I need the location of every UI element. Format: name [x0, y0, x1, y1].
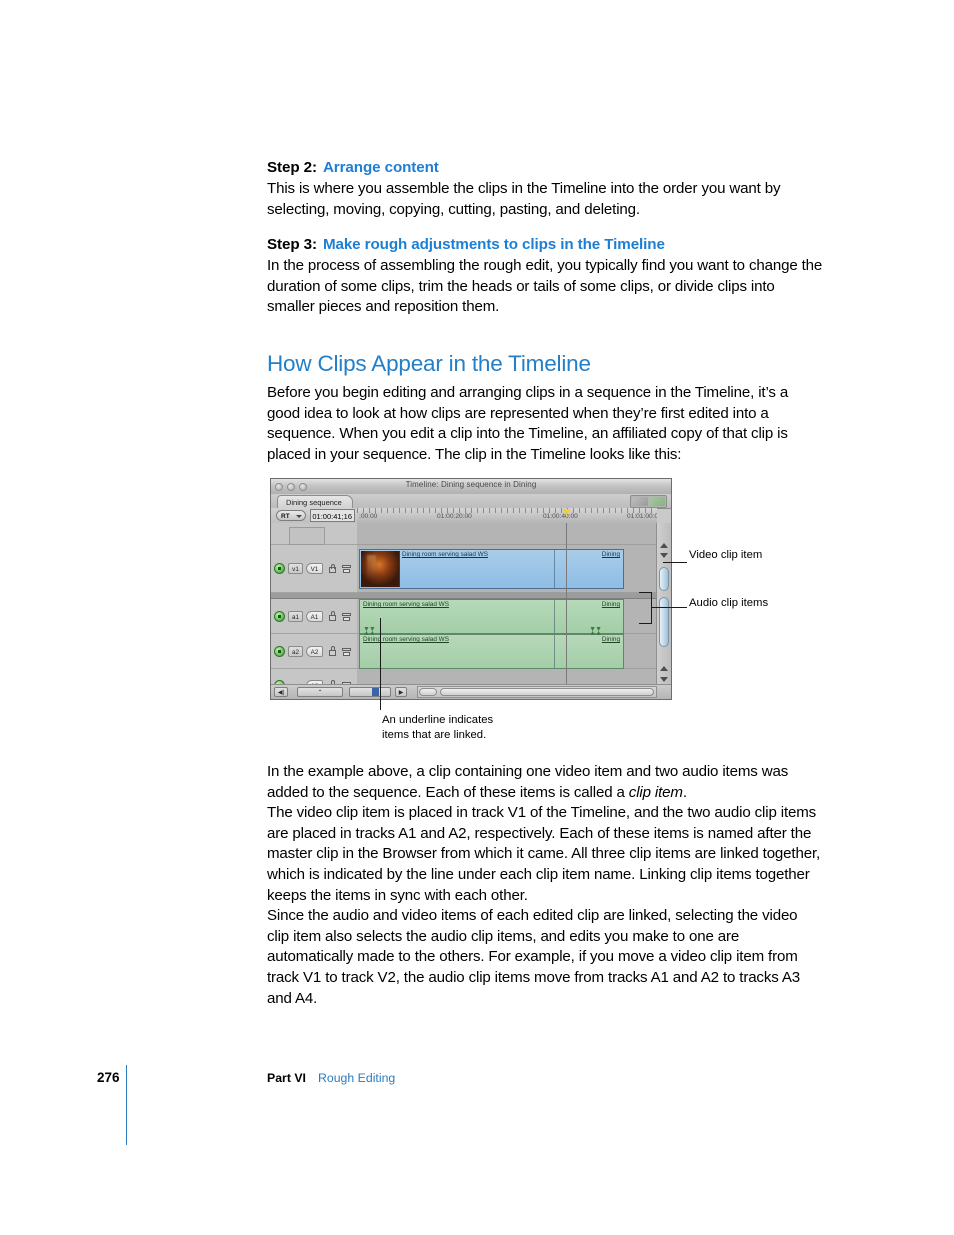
- step-2-heading: Step 2:Arrange content: [267, 158, 823, 178]
- audio-keyframe-icon-a2-left: ▲▲: [363, 631, 375, 636]
- track-header-column: v1 V1 a1 A1 a2: [271, 523, 358, 685]
- rt-popup-button[interactable]: RT: [276, 510, 306, 521]
- lane-a1[interactable]: Dining room serving salad WS Dining ▼▼ ▼…: [357, 599, 671, 634]
- destination-chip-v1[interactable]: V1: [306, 563, 323, 574]
- vertical-scroll-thumb-lower[interactable]: [659, 597, 669, 647]
- video-clip-item[interactable]: Dining room serving salad WS Dining: [359, 549, 624, 589]
- vertical-scrollbar[interactable]: [656, 523, 671, 685]
- page-footer: 276 Part VI Rough Editing: [0, 1070, 954, 1090]
- snapping-icon[interactable]: [649, 497, 665, 506]
- step-3-heading: Step 3:Make rough adjustments to clips i…: [267, 235, 823, 255]
- horizontal-scroll-thumb[interactable]: [440, 688, 654, 696]
- step-3-title: Make rough adjustments to clips in the T…: [323, 236, 665, 253]
- linked-selection-icon[interactable]: [632, 497, 648, 506]
- ruler-label-2: 01:00:40:00: [543, 513, 578, 520]
- scroll-up-icon[interactable]: [660, 543, 668, 548]
- lock-icon-a1[interactable]: [328, 611, 337, 622]
- zoom-slider-thumb[interactable]: [372, 688, 379, 696]
- footer-section-label: Rough Editing: [318, 1071, 395, 1085]
- track-header-a3[interactable]: A3: [271, 669, 357, 685]
- callout-leader-audio: [663, 607, 687, 608]
- section-heading: How Clips Appear in the Timeline: [267, 351, 823, 377]
- lock-icon-v1[interactable]: [328, 563, 337, 574]
- clip-edit-point-a2: [554, 635, 555, 668]
- callout-bracket-audio-stem: [651, 607, 665, 608]
- step-2-title: Arrange content: [323, 159, 439, 176]
- callout-bracket-audio-top: [639, 592, 652, 593]
- window-titlebar: Timeline: Dining sequence in Dining: [271, 479, 671, 495]
- destination-chip-a2[interactable]: A2: [306, 646, 323, 657]
- tracks-area: v1 V1 a1 A1 a2: [271, 523, 671, 685]
- lane-spacer: [357, 523, 671, 545]
- current-timecode-field[interactable]: 01:00:41;16: [310, 509, 355, 522]
- audio-clip-item-a2[interactable]: Dining room serving salad WS Dining ▲▲ ▲…: [359, 634, 624, 669]
- lane-v1[interactable]: Dining room serving salad WS Dining: [357, 545, 671, 593]
- audio-clip-item-a1[interactable]: Dining room serving salad WS Dining ▼▼ ▼…: [359, 599, 624, 634]
- paragraph-example-tail: .: [683, 784, 687, 801]
- source-chip-v1[interactable]: v1: [288, 563, 303, 574]
- ruler-label-3: 01:01:00:00: [627, 513, 657, 520]
- ruler-label-1: 01:00:20:00: [437, 513, 472, 520]
- auto-select-icon-a1[interactable]: [342, 611, 351, 622]
- footer-blue-rule: [126, 1065, 127, 1145]
- track-header-spacer: [271, 523, 357, 545]
- video-clip-right-label: Dining: [602, 551, 620, 558]
- clip-keyframe-toggle-icon[interactable]: ⌃: [297, 687, 343, 697]
- page-number: 276: [97, 1070, 120, 1085]
- clip-item-term: clip item: [629, 784, 683, 801]
- track-header-a2[interactable]: a2 A2: [271, 634, 357, 669]
- step-3-label: Step 3:: [267, 236, 317, 253]
- zoom-expand-icon[interactable]: ▶: [395, 687, 407, 697]
- audio-meter-toggle-icon[interactable]: ◀|: [274, 687, 288, 697]
- lower-body-content: In the example above, a clip containing …: [267, 762, 823, 1009]
- track-header-v1[interactable]: v1 V1: [271, 545, 357, 593]
- lane-a3[interactable]: [357, 669, 671, 685]
- audio-clip-right-label-a2: Dining: [602, 636, 620, 643]
- timeline-figure: Timeline: Dining sequence in Dining Dini…: [270, 478, 672, 700]
- step-2-label: Step 2:: [267, 159, 317, 176]
- video-clip-name: Dining room serving salad WS: [402, 551, 488, 558]
- auto-select-icon-a2[interactable]: [342, 646, 351, 657]
- track-visibility-icon-a2[interactable]: [274, 646, 285, 657]
- callout-underline-line2: items that are linked.: [382, 728, 486, 742]
- audio-clip-right-label-a1: Dining: [602, 601, 620, 608]
- callout-leader-video: [663, 562, 687, 563]
- lock-icon-a2[interactable]: [328, 646, 337, 657]
- timeline-window: Timeline: Dining sequence in Dining Dini…: [270, 478, 672, 700]
- zoom-slider[interactable]: [349, 687, 391, 697]
- clip-edit-point: [554, 550, 555, 588]
- sequence-tabbar: Dining sequence: [271, 494, 671, 509]
- source-chip-a2[interactable]: a2: [288, 646, 303, 657]
- track-header-a1[interactable]: a1 A1: [271, 599, 357, 634]
- source-chip-a1[interactable]: a1: [288, 611, 303, 622]
- tab-dining-sequence[interactable]: Dining sequence: [277, 495, 353, 508]
- paragraph-example-text: In the example above, a clip containing …: [267, 763, 788, 801]
- callout-video-clip-item: Video clip item: [689, 548, 762, 562]
- timeline-bottom-bar: ◀| ⌃ ▶: [271, 684, 671, 699]
- horizontal-scrollbar[interactable]: [417, 686, 657, 698]
- footer-part-label: Part VI: [267, 1071, 306, 1085]
- playhead-line: [566, 523, 567, 685]
- track-height-control[interactable]: [289, 527, 325, 545]
- intro-paragraph: Before you begin editing and arranging c…: [267, 383, 823, 465]
- timeline-tool-buttons[interactable]: [630, 495, 667, 508]
- paragraph-example: In the example above, a clip containing …: [267, 762, 823, 803]
- scroll-down-icon[interactable]: [660, 553, 668, 558]
- callout-bracket-audio: [651, 592, 652, 624]
- paragraph-linking: Since the audio and video items of each …: [267, 906, 823, 1009]
- body-content: Step 2:Arrange content This is where you…: [267, 158, 823, 465]
- ruler-ticks: [357, 508, 657, 513]
- clip-edit-point-a1: [554, 600, 555, 633]
- callout-audio-clip-items: Audio clip items: [689, 596, 768, 610]
- clip-thumbnail: [361, 551, 400, 587]
- vertical-scroll-thumb-upper[interactable]: [659, 567, 669, 591]
- audio-clip-name-a1: Dining room serving salad WS: [363, 601, 449, 608]
- scroll-up-icon-bottom[interactable]: [660, 666, 668, 671]
- callout-underline-line1: An underline indicates: [382, 713, 493, 727]
- track-visibility-icon-v1[interactable]: [274, 563, 285, 574]
- audio-clip-name-a2: Dining room serving salad WS: [363, 636, 449, 643]
- track-visibility-icon-a1[interactable]: [274, 611, 285, 622]
- callout-bracket-audio-bottom: [639, 623, 652, 624]
- lane-a2[interactable]: Dining room serving salad WS Dining ▲▲ ▲…: [357, 634, 671, 669]
- ruler-label-0: :00:00: [359, 513, 377, 520]
- callout-leader-underline: [380, 618, 381, 710]
- audio-keyframe-icon-a2-right: ▲▲: [589, 631, 601, 636]
- step-3-paragraph: In the process of assembling the rough e…: [267, 256, 823, 318]
- document-page: Step 2:Arrange content This is where you…: [0, 0, 954, 1235]
- auto-select-icon-v1[interactable]: [342, 563, 351, 574]
- step-2-paragraph: This is where you assemble the clips in …: [267, 179, 823, 220]
- paragraph-tracks: The video clip item is placed in track V…: [267, 803, 823, 906]
- scroll-down-icon-bottom[interactable]: [660, 677, 668, 682]
- h-scroll-arrow-left[interactable]: [419, 688, 437, 696]
- destination-chip-a1[interactable]: A1: [306, 611, 323, 622]
- timeline-ruler[interactable]: :00:00 01:00:20:00 01:00:40:00 01:01:00:…: [357, 508, 657, 524]
- window-title: Timeline: Dining sequence in Dining: [271, 480, 671, 489]
